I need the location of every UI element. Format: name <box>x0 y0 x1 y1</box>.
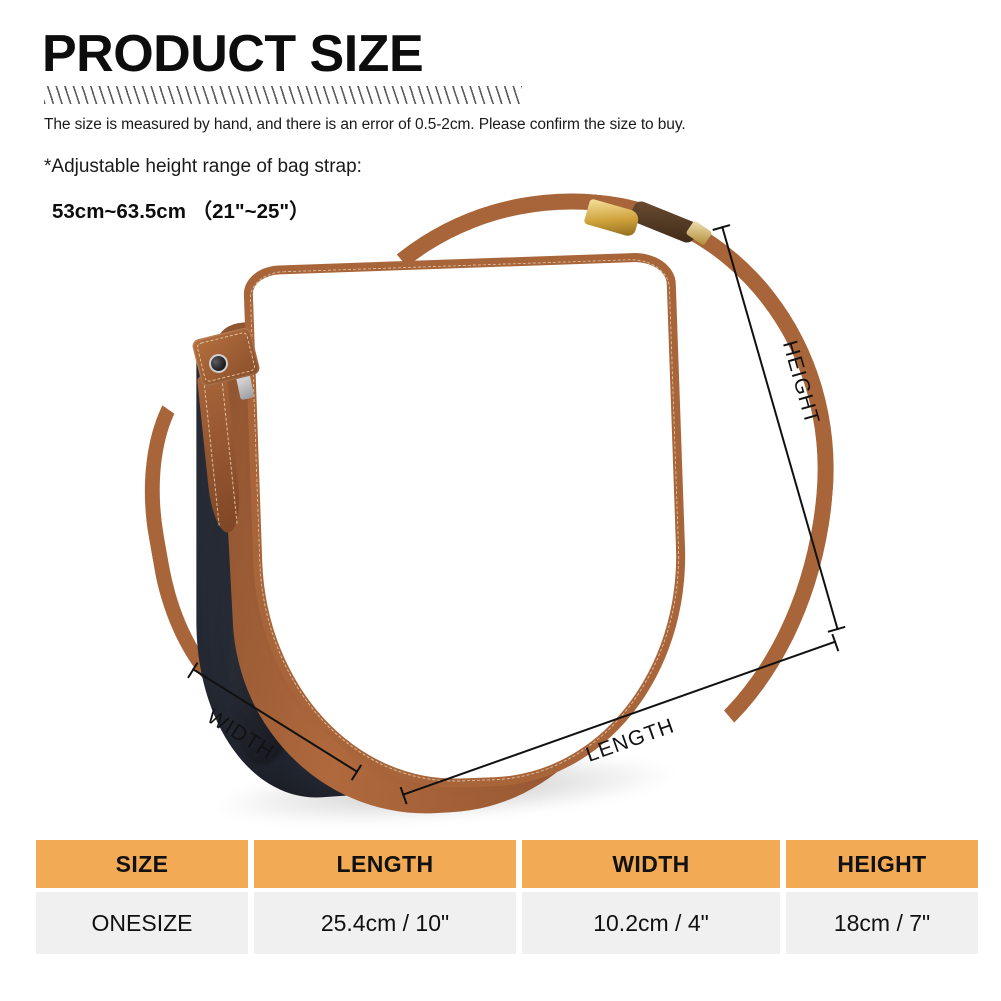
cell-height: 18cm / 7" <box>786 892 978 954</box>
hatch-stripes-icon <box>44 86 522 104</box>
strap-range-label: *Adjustable height range of bag strap: <box>44 156 362 178</box>
cell-length: 25.4cm / 10" <box>254 892 516 954</box>
measurement-note: The size is measured by hand, and there … <box>44 116 686 134</box>
column-header-size: SIZE <box>36 840 248 888</box>
table-row: ONESIZE 25.4cm / 10" 10.2cm / 4" 18cm / … <box>36 892 966 954</box>
cell-width: 10.2cm / 4" <box>522 892 780 954</box>
product-size-infographic: PRODUCT SIZE The size is measured by han… <box>0 0 1001 1001</box>
product-photo <box>0 185 1001 825</box>
column-header-width: WIDTH <box>522 840 780 888</box>
column-header-height: HEIGHT <box>786 840 978 888</box>
cell-size: ONESIZE <box>36 892 248 954</box>
page-title: PRODUCT SIZE <box>42 28 423 80</box>
column-header-length: LENGTH <box>254 840 516 888</box>
size-table: SIZE LENGTH WIDTH HEIGHT ONESIZE 25.4cm … <box>36 840 966 954</box>
table-header-row: SIZE LENGTH WIDTH HEIGHT <box>36 840 966 888</box>
